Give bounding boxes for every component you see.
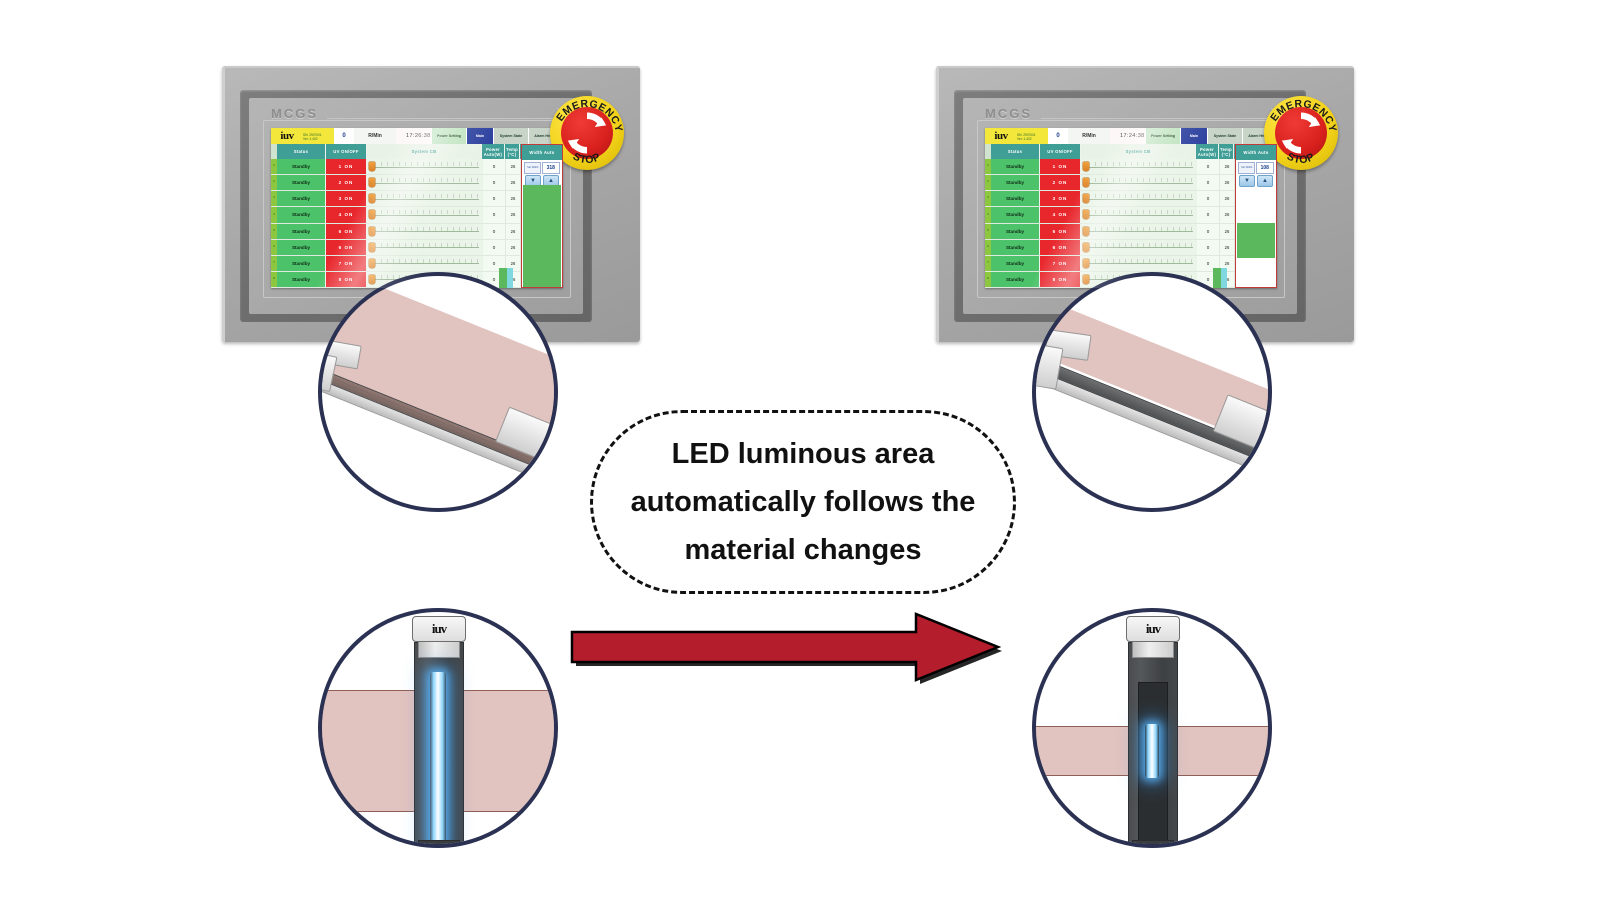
inset-scene [322,276,554,508]
row-uv-toggle[interactable]: 4 ON [326,207,367,222]
slider-track [1089,167,1193,168]
status-block-green [1213,268,1221,288]
row-status: Standby [991,159,1040,174]
slider-track [375,183,479,184]
hmi-brand-mcgs: MCGS [271,106,318,121]
row-uv-toggle[interactable]: 3 ON [326,191,367,206]
row-power-slider[interactable] [367,175,483,190]
slider-knob[interactable] [1083,210,1089,219]
slider-track [375,231,479,232]
table-header-row: Status UV ON/OFF System CB Power Auto(W)… [985,144,1277,159]
slider-knob[interactable] [1083,162,1089,171]
width-auto-bar [1237,223,1275,259]
row-temp-value: 26 [506,207,521,222]
brand-divider-line [327,118,571,119]
slider-knob[interactable] [1083,243,1089,252]
hmi-lcd-screen-right[interactable]: iuv SN: 2907001 Ver: 1.402 0 R/Min 17:24… [985,128,1277,288]
slider-track [1089,231,1193,232]
slider-track [375,215,479,216]
slider-knob[interactable] [369,227,375,236]
main-button[interactable]: Main [1180,128,1207,144]
status-block-cyan [507,268,513,288]
row-status: Standby [277,207,326,222]
clock-display: 17:24:38 [1110,128,1145,144]
row-uv-toggle[interactable]: 2 ON [326,175,367,190]
width-auto-buttons: ▼ ▲ [1236,175,1276,187]
table-row[interactable]: 2Standby2 ON026 [985,175,1277,191]
callout-line-3: material changes [685,534,922,566]
estop-label-top: EMERGENCY [554,98,624,134]
brand-divider-line [1041,118,1285,119]
row-temp-value: 26 [506,224,521,239]
row-power-slider[interactable] [367,240,483,255]
slider-ticks [375,178,479,182]
row-power-slider[interactable] [1081,256,1197,271]
estop-label-bottom: STOP [1285,151,1317,167]
table-row[interactable]: 6Standby6 ON026 [985,240,1277,256]
row-status: Standby [277,256,326,271]
led-lamp-head: iuv [412,616,466,642]
down-arrow-icon[interactable]: ▼ [1239,175,1255,187]
uv-luminous-area-long [430,672,446,848]
set-width-label: Set Width [524,162,541,174]
row-status: Standby [277,159,326,174]
inset-top-right-narrow-material [1032,272,1272,512]
header-uv-onoff: UV ON/OFF [1040,144,1081,159]
width-auto-title: Width Auto [522,145,562,160]
row-status: Standby [991,191,1040,206]
row-temp-value: 26 [1220,175,1235,190]
system-state-button[interactable]: System State [493,128,528,144]
row-temp-value: 26 [1220,207,1235,222]
header-system-cb: System CB [367,144,482,159]
slider-ticks [1089,259,1193,263]
estop-label-top: EMERGENCY [1268,98,1338,134]
width-auto-controls: Set Width 318 [522,160,562,175]
hmi-brand-mcgs: MCGS [985,106,1032,121]
row-power-value: 0 [1197,224,1220,239]
slider-ticks [1089,194,1193,198]
speed-value: 0 [334,128,354,144]
row-power-slider[interactable] [1081,159,1197,174]
row-status: Standby [991,240,1040,255]
header-status: Status [277,144,326,159]
slider-ticks [375,210,479,214]
slider-knob[interactable] [369,210,375,219]
row-power-value: 0 [483,175,506,190]
width-auto-title: Width Auto [1236,145,1276,160]
callout-bubble: LED luminous area automatically follows … [590,410,1016,594]
table-row[interactable]: 4Standby4 ON026 [985,207,1277,223]
table-row[interactable]: 4Standby4 ON026 [271,207,563,223]
row-uv-toggle[interactable]: 3 ON [1040,191,1081,206]
row-uv-toggle[interactable]: 6 ON [326,240,367,255]
inset-top-left-wide-material [318,272,558,512]
status-block-cyan [1221,268,1227,288]
led-lamp-foot [1132,840,1174,848]
row-status: Standby [991,256,1040,271]
slider-ticks [375,227,479,231]
width-auto-controls: Set Width 108 [1236,160,1276,175]
set-width-value[interactable]: 108 [1256,162,1274,174]
led-lamp-head: iuv [1126,616,1180,642]
row-status: Standby [991,224,1040,239]
set-width-label: Set Width [1238,162,1255,174]
table-row[interactable]: 1Standby1 ON026 [985,159,1277,175]
row-power-value: 0 [483,159,506,174]
header-temp: Temp (°C) [1219,144,1234,159]
header-system-cb: System CB [1081,144,1196,159]
row-status: Standby [991,272,1040,287]
row-power-slider[interactable] [367,159,483,174]
slider-track [1089,215,1193,216]
lamp-table-rows-right: 1Standby1 ON0262Standby2 ON0263Standby3 … [985,159,1277,288]
row-status: Standby [277,240,326,255]
slider-ticks [375,162,479,166]
callout-line-1: LED luminous area [672,438,935,470]
row-power-slider[interactable] [1081,224,1197,239]
lcd-topbar: iuv SN: 2907001 Ver: 1.402 0 R/Min 17:26… [271,128,563,145]
speed-unit: R/Min [354,128,396,144]
row-power-value: 0 [483,240,506,255]
lcd-topbar: iuv SN: 2907001 Ver: 1.402 0 R/Min 17:24… [985,128,1277,145]
inset-bottom-left-wide-material: iuv [318,608,558,848]
slider-knob[interactable] [369,194,375,203]
system-state-button[interactable]: System State [1207,128,1242,144]
slider-track [375,167,479,168]
slider-ticks [1089,162,1193,166]
header-power-auto: Power Auto(W) [1196,144,1219,159]
row-power-value: 0 [1197,159,1220,174]
slider-ticks [1089,178,1193,182]
power-setting-button[interactable]: Power Setting [431,128,466,144]
row-status: Standby [277,175,326,190]
row-status: Standby [991,207,1040,222]
inset-scene: iuv [1036,612,1268,844]
row-status: Standby [277,191,326,206]
inset-bottom-right-narrow-material: iuv [1032,608,1272,848]
row-temp-value: 26 [506,159,521,174]
width-auto-column-left[interactable]: Width Auto Set Width 318 ▼ ▲ [521,144,563,288]
row-power-slider[interactable] [1081,207,1197,222]
iuv-logo: iuv [1146,621,1160,637]
row-power-slider[interactable] [1081,191,1197,206]
row-power-value: 0 [1197,191,1220,206]
slider-knob[interactable] [1083,194,1089,203]
uv-luminous-area-short [1145,724,1159,778]
table-row[interactable]: 2Standby2 ON026 [271,175,563,191]
slider-ticks [1089,227,1193,231]
iuv-logo: iuv [985,128,1017,144]
callout-line-2: automatically follows the [631,486,976,518]
row-status: Standby [277,224,326,239]
slider-ticks [1089,243,1193,247]
table-row[interactable]: 3Standby3 ON026 [985,191,1277,207]
row-status: Standby [991,175,1040,190]
header-status: Status [991,144,1040,159]
row-temp-value: 26 [506,240,521,255]
header-temp: Temp (°C) [505,144,520,159]
version-label: Ver: 1.402 [303,137,333,141]
row-power-slider[interactable] [367,256,483,271]
inset-scene [1036,276,1268,508]
callout-text: LED luminous area automatically follows … [631,430,976,574]
slider-knob[interactable] [1083,178,1089,187]
slider-knob[interactable] [369,259,375,268]
row-power-value: 0 [483,207,506,222]
row-uv-toggle[interactable]: 1 ON [326,159,367,174]
row-temp-value: 26 [1220,224,1235,239]
serial-version-block: SN: 2907001 Ver: 1.402 [1017,128,1048,144]
row-power-value: 0 [1197,240,1220,255]
row-power-value: 0 [1197,175,1220,190]
power-setting-button[interactable]: Power Setting [1145,128,1180,144]
slider-track [1089,263,1193,264]
row-uv-toggle[interactable]: 5 ON [1040,224,1081,239]
slider-track [375,199,479,200]
version-label: Ver: 1.402 [1017,137,1047,141]
row-temp-value: 26 [1220,191,1235,206]
row-uv-toggle[interactable]: 1 ON [1040,159,1081,174]
row-power-value: 0 [483,191,506,206]
speed-value: 0 [1048,128,1068,144]
width-auto-column-right[interactable]: Width Auto Set Width 108 ▼ ▲ [1235,144,1277,288]
row-uv-toggle[interactable]: 2 ON [1040,175,1081,190]
slider-knob[interactable] [369,178,375,187]
slider-knob[interactable] [369,243,375,252]
slider-track [375,263,479,264]
row-power-value: 0 [483,224,506,239]
slider-ticks [1089,210,1193,214]
set-width-value[interactable]: 318 [542,162,560,174]
row-temp-value: 26 [506,191,521,206]
table-header-row: Status UV ON/OFF System CB Power Auto(W)… [271,144,563,159]
up-arrow-icon[interactable]: ▲ [1257,175,1273,187]
row-power-slider[interactable] [367,224,483,239]
row-power-slider[interactable] [1081,240,1197,255]
row-status: Standby [277,272,326,287]
main-button[interactable]: Main [466,128,493,144]
slider-track [1089,183,1193,184]
slider-knob[interactable] [369,162,375,171]
slider-track [375,247,479,248]
slider-track [1089,247,1193,248]
slider-knob[interactable] [1083,227,1089,236]
table-row[interactable]: 5Standby5 ON026 [985,224,1277,240]
row-uv-toggle[interactable]: 6 ON [1040,240,1081,255]
slider-track [1089,199,1193,200]
row-uv-toggle[interactable]: 7 ON [1040,256,1081,271]
row-uv-toggle[interactable]: 5 ON [326,224,367,239]
lamp-table-rows-left: 1Standby1 ON0262Standby2 ON0263Standby3 … [271,159,563,288]
hmi-lcd-screen-left[interactable]: iuv SN: 2907001 Ver: 1.402 0 R/Min 17:26… [271,128,563,288]
header-uv-onoff: UV ON/OFF [326,144,367,159]
transition-arrow-icon [566,606,1006,686]
iuv-logo: iuv [432,621,446,637]
row-temp-value: 26 [1220,240,1235,255]
slider-knob[interactable] [369,275,375,284]
table-row[interactable]: 1Standby1 ON026 [271,159,563,175]
row-power-slider[interactable] [367,191,483,206]
slider-ticks [375,194,479,198]
row-power-value: 0 [1197,207,1220,222]
iuv-logo: iuv [271,128,303,144]
row-power-slider[interactable] [367,207,483,222]
table-row[interactable]: 5Standby5 ON026 [271,224,563,240]
row-temp-value: 26 [1220,159,1235,174]
inset-scene: iuv [322,612,554,844]
width-auto-bar [523,185,561,287]
estop-label-bottom: STOP [571,151,603,167]
table-row[interactable]: 3Standby3 ON026 [271,191,563,207]
speed-unit: R/Min [1068,128,1110,144]
slider-ticks [375,259,479,263]
status-block-green [499,268,507,288]
slider-knob[interactable] [1083,259,1089,268]
row-temp-value: 26 [506,175,521,190]
led-lamp-foot [418,840,460,848]
header-power-auto: Power Auto(W) [482,144,505,159]
slider-ticks [375,243,479,247]
clock-display: 17:26:38 [396,128,431,144]
diagram-canvas: MCGS iuv SN: 2907001 Ver: 1.402 [0,0,1600,900]
table-row[interactable]: 6Standby6 ON026 [271,240,563,256]
table-row[interactable]: 7Standby7 ON026 [271,256,563,272]
serial-version-block: SN: 2907001 Ver: 1.402 [303,128,334,144]
row-uv-toggle[interactable]: 4 ON [1040,207,1081,222]
row-uv-toggle[interactable]: 7 ON [326,256,367,271]
slider-knob[interactable] [1083,275,1089,284]
row-power-slider[interactable] [1081,175,1197,190]
table-row[interactable]: 7Standby7 ON026 [985,256,1277,272]
